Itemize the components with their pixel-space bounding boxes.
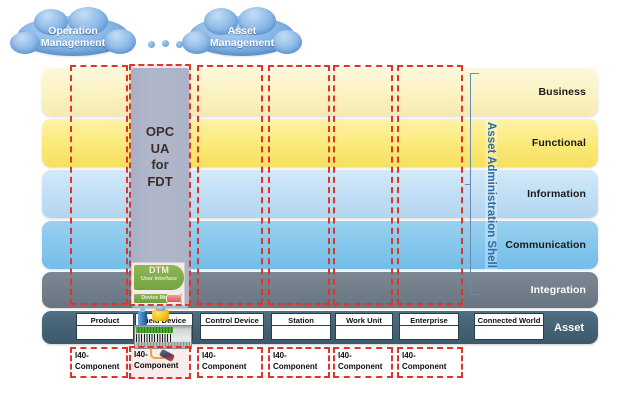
column-product[interactable] [70,65,128,305]
i40-component-label: I40- Component [202,351,246,372]
layer-label: Integration [531,284,586,296]
field-device-sensor-icon [138,311,147,325]
layer-label: Business [539,86,587,98]
column-work-unit[interactable] [333,65,393,305]
layer-label: Communication [505,239,586,251]
asset-box-product[interactable]: Product [76,313,134,340]
asset-row-label: Asset [554,322,584,334]
bracket-cap-bottom [470,294,479,295]
field-device-actuator-icon [152,309,169,321]
i40-component-control-device[interactable]: I40- Component [197,347,263,378]
asset-box-label: Work Unit [336,314,392,326]
layer-label: Information [527,188,586,200]
cloud-connector-dots [148,40,194,50]
layer-label: Functional [532,137,586,149]
asset-administration-shell-bracket [470,73,480,295]
asset-administration-shell-label: Asset Administration Shell [485,120,497,270]
i40-component-enterprise[interactable]: I40- Component [397,347,463,378]
asset-box-station[interactable]: Station [271,313,331,340]
asset-box-connected-world[interactable]: Connected World [474,313,544,340]
i40-component-label: I40- Component [338,351,382,372]
i40-component-work-unit[interactable]: I40- Component [333,347,393,378]
cloud-label: Operation Management [18,16,128,49]
column-station[interactable] [268,65,330,305]
cloud-asset-management: Asset Management [190,16,294,56]
asset-box-enterprise[interactable]: Enterprise [399,313,459,340]
bracket-mid-tick [465,184,470,185]
asset-box-label: Enterprise [400,314,458,326]
asset-box-label: Connected World [475,314,543,326]
bracket-cap-top [470,73,479,74]
i40-component-station[interactable]: I40- Component [268,347,330,378]
column-enterprise[interactable] [397,65,463,305]
i40-component-label: I40- Component [273,351,317,372]
cloud-label: Asset Management [190,16,294,49]
dot [148,41,155,48]
bracket-line [470,73,471,295]
asset-box-label: Control Device [201,314,263,326]
asset-box-label: Station [272,314,330,326]
i40-component-label: I40- Component [134,350,178,371]
rami-diagram: Operation Management Asset Management Bu… [0,0,640,408]
cloud-operation-management: Operation Management [18,16,128,56]
i40-component-field-device[interactable]: I40- Component [129,346,191,379]
dot [162,40,169,47]
io-module-green-strip [136,327,173,333]
column-control-device[interactable] [197,65,263,305]
dot [176,41,183,48]
i40-component-product[interactable]: I40- Component [70,347,128,378]
column-field-device[interactable] [129,64,191,306]
asset-box-label: Product [77,314,133,326]
i40-component-label: I40- Component [402,351,446,372]
asset-box-control-device[interactable]: Control Device [200,313,264,340]
asset-box-work-unit[interactable]: Work Unit [335,313,393,340]
i40-component-label: I40- Component [75,351,119,372]
